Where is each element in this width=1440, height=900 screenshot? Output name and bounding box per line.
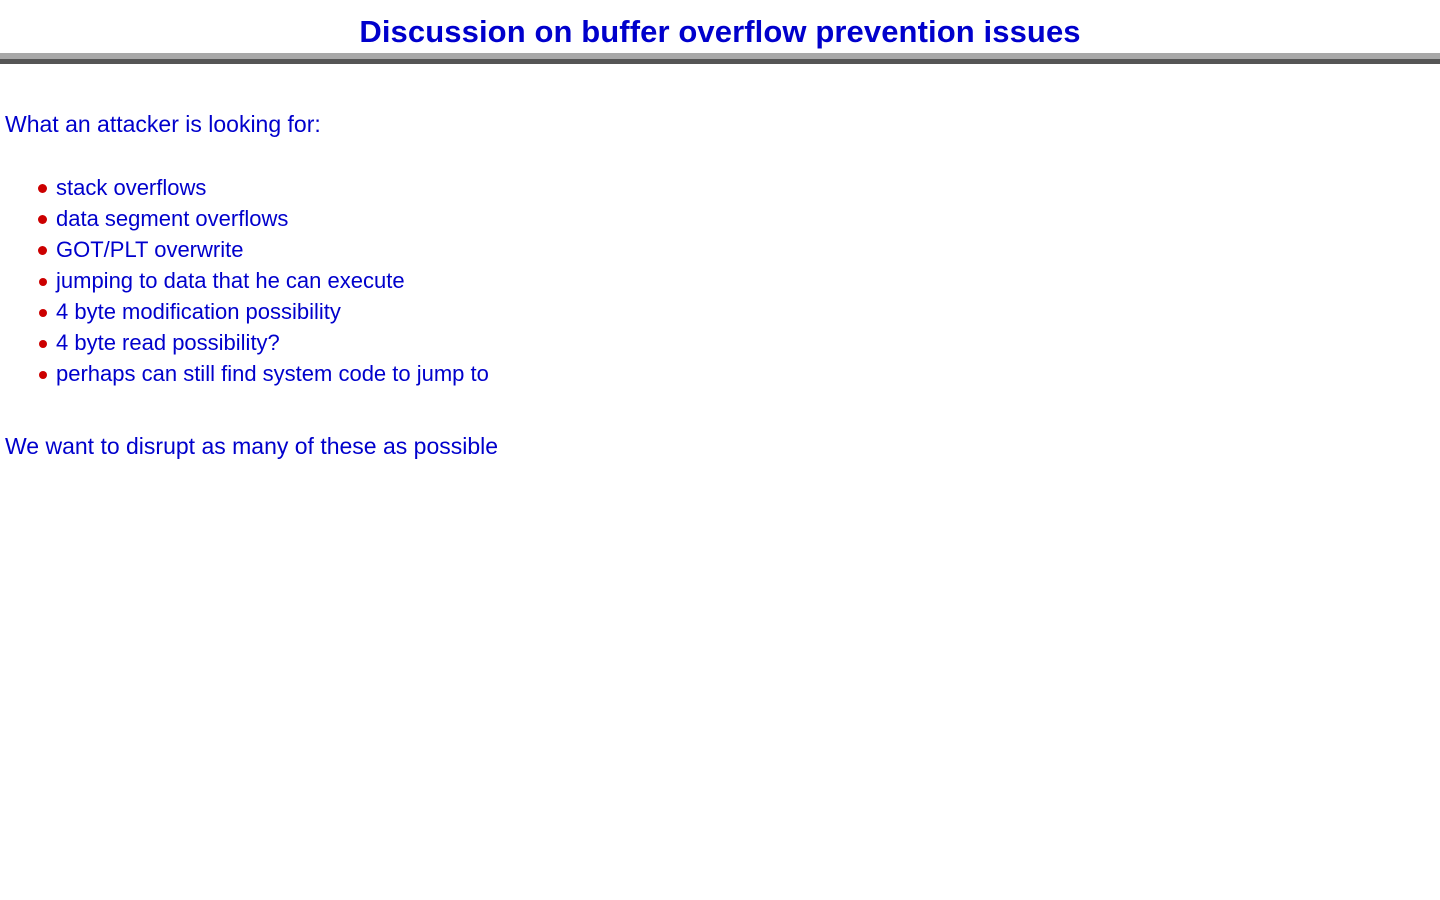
slide-canvas: Discussion on buffer overflow prevention… [0, 0, 1440, 900]
list-item-label: 4 byte modification possibility [56, 296, 341, 327]
list-item-label: jumping to data that he can execute [56, 265, 405, 296]
title-divider [0, 53, 1440, 64]
list-item-label: data segment overflows [56, 203, 288, 234]
list-item-label: perhaps can still find system code to ju… [56, 358, 489, 389]
list-item: 4 byte modification possibility [0, 296, 1000, 327]
page-title: Discussion on buffer overflow prevention… [359, 14, 1080, 50]
list-item: stack overflows [0, 172, 1000, 203]
lead-paragraph: What an attacker is looking for: [5, 110, 321, 138]
list-item-label: 4 byte read possibility? [56, 327, 280, 358]
closing-paragraph: We want to disrupt as many of these as p… [5, 432, 498, 460]
red-dot-bullet-icon [39, 371, 47, 379]
red-dot-bullet-icon [38, 215, 47, 224]
attacker-goals-list: stack overflows data segment overflows G… [0, 172, 1000, 389]
red-dot-bullet-icon [39, 340, 47, 348]
red-dot-bullet-icon [39, 278, 47, 286]
red-dot-bullet-icon [39, 309, 47, 317]
list-item: jumping to data that he can execute [0, 265, 1000, 296]
list-item: 4 byte read possibility? [0, 327, 1000, 358]
slide-title-bar: Discussion on buffer overflow prevention… [0, 14, 1440, 50]
list-item: GOT/PLT overwrite [0, 234, 1000, 265]
slide-body: What an attacker is looking for: stack o… [0, 64, 1440, 900]
red-dot-bullet-icon [38, 246, 47, 255]
list-item-label: stack overflows [56, 172, 206, 203]
list-item: data segment overflows [0, 203, 1000, 234]
list-item-label: GOT/PLT overwrite [56, 234, 243, 265]
red-dot-bullet-icon [38, 184, 47, 193]
list-item: perhaps can still find system code to ju… [0, 358, 1000, 389]
